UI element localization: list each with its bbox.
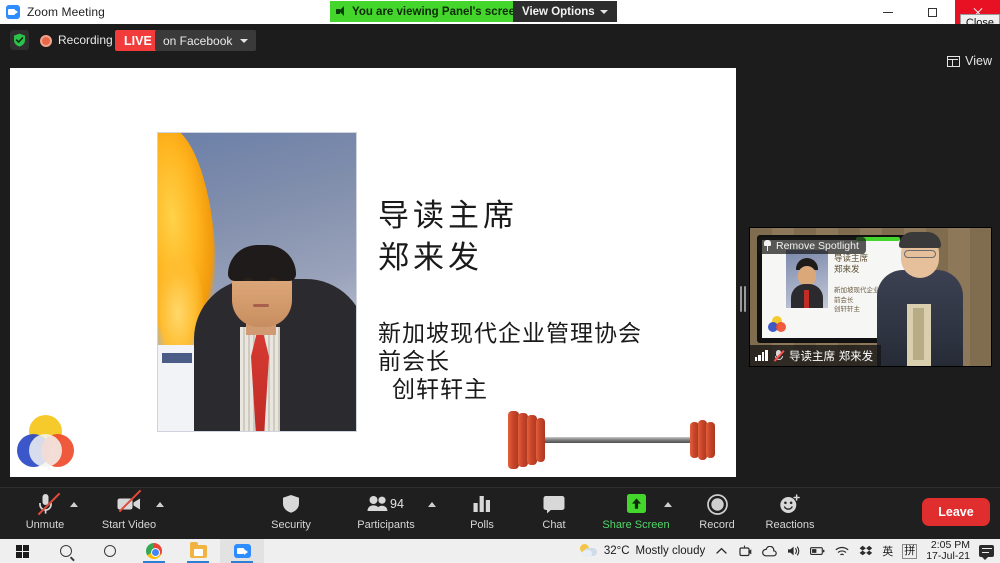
windows-taskbar: 32°C Mostly cloudy xyxy=(0,539,1000,563)
screenshare-banner-text: You are viewing Panel's screen xyxy=(352,6,522,18)
portrait-eye-right xyxy=(269,278,277,281)
shared-screen-slide[interactable]: 导读主席 郑来发 新加坡现代企业管理协会 前会长 创轩轩主 xyxy=(10,68,736,477)
microphone-muted-icon xyxy=(37,492,54,516)
share-options-caret[interactable] xyxy=(664,502,672,507)
webcam-icon[interactable] xyxy=(738,544,753,559)
participants-icon: 94 xyxy=(367,492,405,516)
start-video-button[interactable]: Start Video xyxy=(90,492,168,538)
polls-bar-icon xyxy=(473,492,491,516)
participants-options-caret[interactable] xyxy=(428,502,436,507)
ime-language-indicator[interactable]: 英 xyxy=(882,543,893,559)
chevron-up-icon[interactable] xyxy=(714,544,729,559)
clock-date: 17-Jul-21 xyxy=(926,551,970,562)
zoom-video-icon xyxy=(234,544,251,558)
presenter-hair xyxy=(899,232,941,248)
svg-text:94: 94 xyxy=(390,497,404,511)
signal-bar xyxy=(765,350,767,361)
participant-name-label: 导读主席 郑来发 xyxy=(750,345,881,366)
unmute-button[interactable]: Unmute xyxy=(6,492,84,538)
dropbox-icon[interactable] xyxy=(858,544,873,559)
panel-drag-handle[interactable] xyxy=(740,286,746,312)
window-title: Zoom Meeting xyxy=(27,5,105,19)
sun-cloud-icon xyxy=(580,544,598,558)
video-presenter xyxy=(877,234,963,366)
system-tray: 32°C Mostly cloudy xyxy=(580,539,1000,563)
chat-button[interactable]: Chat xyxy=(515,492,593,538)
zoom-video-icon xyxy=(6,5,20,19)
record-label: Record xyxy=(699,519,734,531)
chrome-button[interactable] xyxy=(132,539,176,563)
cortana-circle-icon xyxy=(104,545,116,557)
presenter-glasses xyxy=(904,250,936,258)
signal-bar xyxy=(762,352,764,361)
zoom-toolbar: Unmute Start Video xyxy=(0,487,1000,539)
battery-icon[interactable] xyxy=(810,544,825,559)
window-title-bar: Zoom Meeting You are viewing Panel's scr… xyxy=(0,0,1000,24)
slide-line-3: 新加坡现代企业管理协会 xyxy=(378,320,708,348)
participant-video-tile[interactable]: 导读主席 郑来发 新加坡现代企业管理协会 前会长 创轩轩主 xyxy=(749,227,992,367)
mini-tie xyxy=(804,290,809,308)
search-button[interactable] xyxy=(44,539,88,563)
video-options-caret[interactable] xyxy=(156,502,164,507)
record-circle-icon xyxy=(707,492,728,516)
notification-icon[interactable] xyxy=(979,545,994,557)
barbell-plate xyxy=(706,422,715,458)
weather-widget[interactable]: 32°C Mostly cloudy xyxy=(580,544,705,558)
chevron-down-icon xyxy=(600,10,608,14)
meeting-area: Recording LIVE on Facebook View xyxy=(0,24,1000,539)
presenter-tie xyxy=(913,308,924,360)
view-layout-button[interactable]: View xyxy=(947,54,992,68)
view-options-button[interactable]: View Options xyxy=(513,1,617,22)
view-options-label: View Options xyxy=(522,6,595,18)
zoom-taskbar-button[interactable] xyxy=(220,539,264,563)
file-explorer-button[interactable] xyxy=(176,539,220,563)
shield-icon xyxy=(282,492,300,516)
chat-bubble-icon xyxy=(543,492,565,516)
share-screen-icon xyxy=(624,492,648,516)
taskbar-buttons xyxy=(0,539,264,563)
search-icon xyxy=(60,545,72,557)
minimize-icon xyxy=(883,12,893,13)
maximize-button[interactable] xyxy=(910,0,955,24)
screenshare-banner: You are viewing Panel's screen xyxy=(330,1,530,22)
remove-spotlight-button[interactable]: Remove Spotlight xyxy=(758,237,866,254)
remove-spotlight-label: Remove Spotlight xyxy=(776,240,859,252)
chat-label: Chat xyxy=(542,519,565,531)
start-video-label: Start Video xyxy=(102,519,156,531)
reactions-button[interactable]: Reactions xyxy=(751,492,829,538)
venn-circle-red xyxy=(776,322,786,332)
reactions-label: Reactions xyxy=(766,519,815,531)
unmute-label: Unmute xyxy=(26,519,65,531)
slide-line-1: 导读主席 xyxy=(378,198,708,236)
recording-label: Recording xyxy=(58,33,113,47)
microphone-muted-icon xyxy=(773,349,784,362)
grid-view-icon xyxy=(947,56,960,67)
speaker-icon xyxy=(336,6,347,17)
onedrive-icon[interactable] xyxy=(762,544,777,559)
leave-button[interactable]: Leave xyxy=(922,498,990,526)
folder-icon xyxy=(190,545,207,558)
stream-target-label: on Facebook xyxy=(163,34,232,48)
audio-options-caret[interactable] xyxy=(70,502,78,507)
portrait-hair xyxy=(228,245,296,281)
recording-status-bar: Recording LIVE on Facebook View xyxy=(0,24,1000,56)
barbell-image xyxy=(498,409,730,471)
pin-icon xyxy=(763,240,772,251)
chevron-down-icon xyxy=(240,39,248,43)
share-screen-button[interactable]: Share Screen xyxy=(597,492,675,538)
participants-button[interactable]: 94 Participants xyxy=(347,492,425,538)
signal-bar xyxy=(758,355,760,362)
drag-handle-bar xyxy=(740,286,742,312)
signal-bars-icon xyxy=(755,350,768,361)
windows-logo-icon xyxy=(16,545,29,558)
record-dot-icon xyxy=(40,35,52,47)
portrait-photo xyxy=(157,132,357,432)
taskbar-clock[interactable]: 2:05 PM 17-Jul-21 xyxy=(926,540,970,562)
share-screen-label: Share Screen xyxy=(602,519,669,531)
video-off-icon xyxy=(117,492,141,516)
mini-face xyxy=(798,266,816,286)
reactions-icon xyxy=(779,492,801,516)
slide-line-5: 创轩轩主 xyxy=(378,376,708,404)
slide-line-4: 前会长 xyxy=(378,348,708,376)
weather-temperature: 32°C xyxy=(604,545,630,557)
view-button-label: View xyxy=(965,54,992,68)
wifi-icon[interactable] xyxy=(834,544,849,559)
venn-circle-center xyxy=(29,434,62,467)
live-badge: LIVE xyxy=(115,30,161,51)
slide-line-2: 郑来发 xyxy=(378,240,708,278)
video-slide-portrait xyxy=(786,250,828,308)
drag-handle-bar xyxy=(744,286,746,312)
zoom-meeting-window: Zoom Meeting You are viewing Panel's scr… xyxy=(0,0,1000,563)
signal-bar xyxy=(755,357,757,361)
portrait-mouth xyxy=(253,304,269,307)
portrait-eye-left xyxy=(244,278,252,281)
security-button[interactable]: Security xyxy=(252,492,330,538)
ime-mode-indicator[interactable]: 拼 xyxy=(902,544,917,559)
slide-text-block: 导读主席 郑来发 新加坡现代企业管理协会 前会长 创轩轩主 xyxy=(378,198,708,404)
barbell-bar xyxy=(518,437,714,443)
polls-label: Polls xyxy=(470,519,494,531)
record-button[interactable]: Record xyxy=(678,492,756,538)
chrome-icon xyxy=(146,543,162,559)
weather-condition: Mostly cloudy xyxy=(636,545,706,557)
shield-check-icon[interactable] xyxy=(10,30,29,50)
cortana-button[interactable] xyxy=(88,539,132,563)
participants-label: Participants xyxy=(357,519,414,531)
barbell-plate xyxy=(536,418,545,462)
video-slide-logo xyxy=(768,316,786,332)
volume-icon[interactable] xyxy=(786,544,801,559)
participant-name-text: 导读主席 郑来发 xyxy=(789,348,873,364)
polls-button[interactable]: Polls xyxy=(443,492,521,538)
maximize-icon xyxy=(928,8,937,17)
security-label: Security xyxy=(271,519,311,531)
minimize-button[interactable] xyxy=(865,0,910,24)
stream-target-dropdown[interactable]: on Facebook xyxy=(155,30,256,51)
venn-circles-logo xyxy=(17,415,75,467)
start-button[interactable] xyxy=(0,539,44,563)
